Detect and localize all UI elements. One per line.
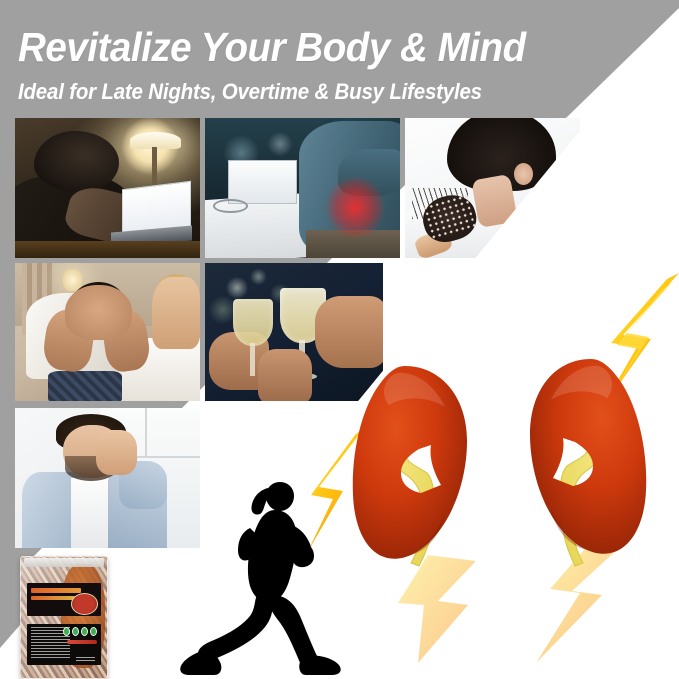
package-benefit-badges (63, 629, 97, 634)
wine-glass-left-stem (250, 343, 255, 376)
hand-shape-right (315, 296, 383, 368)
product-package (20, 556, 108, 679)
head-shape (34, 131, 119, 193)
benefit-badge (63, 627, 70, 636)
package-title-line-2 (31, 596, 75, 600)
package-net-weight (76, 657, 95, 662)
package-seal-badge (71, 593, 98, 615)
page-subtitle: Ideal for Late Nights, Overtime & Busy L… (18, 79, 482, 105)
list-item (15, 118, 200, 258)
page-title: Revitalize Your Body & Mind (18, 24, 526, 71)
hands-on-head (65, 285, 132, 340)
package-zipper (24, 558, 105, 567)
list-item (15, 408, 200, 548)
photo-bedroom-stress (15, 263, 200, 401)
hand-shape-lower (258, 349, 311, 401)
neck-shape (471, 174, 517, 228)
package-title-line-1 (31, 588, 81, 592)
package-label-top (27, 583, 101, 616)
shorts-shape (48, 371, 122, 401)
woman-figure (152, 277, 200, 349)
list-item (205, 118, 400, 258)
photo-hair-loss-brush (405, 118, 580, 258)
desk-surface (15, 241, 200, 258)
package-label-bottom (27, 624, 101, 666)
photo-headache-fatigue (15, 408, 200, 548)
photo-back-pain-desk (205, 118, 400, 258)
lamp-shade-icon (130, 132, 182, 149)
benefit-badge (90, 627, 97, 636)
glasses-icon (213, 199, 248, 213)
laptop-screen (228, 160, 296, 204)
lightning-bolt-bottom-left (398, 555, 486, 663)
package-highlight-bar (67, 640, 97, 645)
kidney-left (349, 363, 489, 568)
list-item (15, 263, 200, 401)
wine-glass-left (233, 299, 272, 346)
photo-late-night-laptop (15, 118, 200, 258)
kidney-right (505, 356, 650, 568)
benefit-badge (72, 627, 79, 636)
benefit-badge (81, 627, 88, 636)
hand-on-face (96, 430, 137, 475)
running-woman-silhouette (176, 468, 344, 679)
list-item (405, 118, 580, 258)
poster-canvas: Revitalize Your Body & Mind Ideal for La… (0, 0, 679, 679)
ear-shape (514, 163, 533, 185)
cabinet-seam-vertical (145, 408, 147, 456)
